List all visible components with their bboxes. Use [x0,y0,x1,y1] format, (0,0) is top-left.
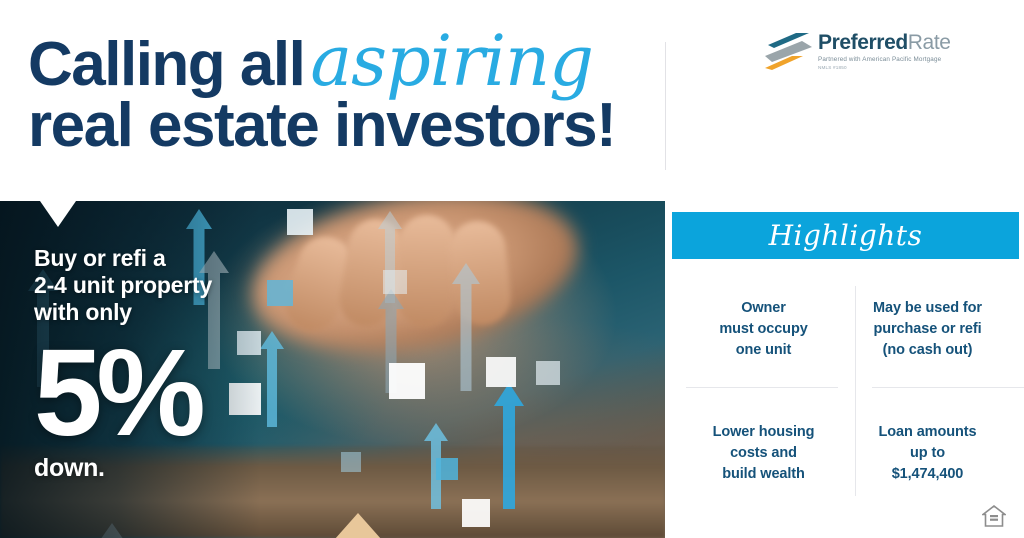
headline-line2: real estate investors! [28,96,648,156]
logo-wordmark: PreferredRate Partnered with American Pa… [818,32,951,71]
headline-line1-script: aspiring [304,20,593,102]
plus-glyph [436,458,458,480]
highlight-item: Ownermust occupyone unit [682,298,845,361]
logo-nmls: NMLS #1850 [818,64,951,71]
wooden-house-model [303,513,413,538]
logo-name-light: Rate [908,31,951,54]
growth-arrow [452,263,480,391]
logo-name-bold: Preferred [818,31,908,54]
plus-glyph [486,357,516,387]
offer-copy-line2: 2-4 unit property [34,272,212,299]
highlight-item: Loan amountsup to$1,474,400 [846,422,1009,485]
page-title: Calling allaspiring real estate investor… [28,28,648,156]
equal-housing-opportunity-icon [982,505,1006,527]
plus-glyph [536,361,560,385]
marketing-banner: Calling allaspiring real estate investor… [0,0,1024,538]
down-payment-percentage: 5% [34,340,212,448]
header-divider [665,42,666,170]
growth-arrow [494,383,524,509]
offer-copy-line1: Buy or refi a [34,245,212,272]
growth-arrow [260,331,284,427]
highlights-horizontal-divider-right [872,387,1024,388]
triangle-notch [40,201,76,227]
preferred-rate-logo-icon [762,32,814,78]
logo-tagline: Partnered with American Pacific Mortgage [818,55,951,64]
highlights-horizontal-divider-left [686,387,838,388]
plus-glyph [462,499,490,527]
highlight-item: May be used forpurchase or refi(no cash … [846,298,1009,361]
offer-copy-line3: with only [34,299,212,326]
offer-copy: Buy or refi a 2-4 unit property with onl… [34,245,212,483]
highlights-banner: Highlights [672,212,1019,259]
hero-photo-panel: Buy or refi a 2-4 unit property with onl… [0,201,665,538]
logo-name: PreferredRate [818,32,951,54]
plus-glyph [287,209,313,235]
highlights-banner-title: Highlights [769,219,923,252]
highlights-grid: Ownermust occupyone unit May be used for… [672,282,1019,500]
header: Calling allaspiring real estate investor… [0,0,1024,200]
plus-glyph [383,270,407,294]
house-roof [303,513,413,538]
plus-glyph [389,363,425,399]
plus-glyph [267,280,293,306]
brand-logo: PreferredRate Partnered with American Pa… [762,30,947,82]
highlight-item: Lower housingcosts andbuild wealth [682,422,845,485]
plus-glyph [341,452,361,472]
headline-line1-plain: Calling all [28,30,304,99]
